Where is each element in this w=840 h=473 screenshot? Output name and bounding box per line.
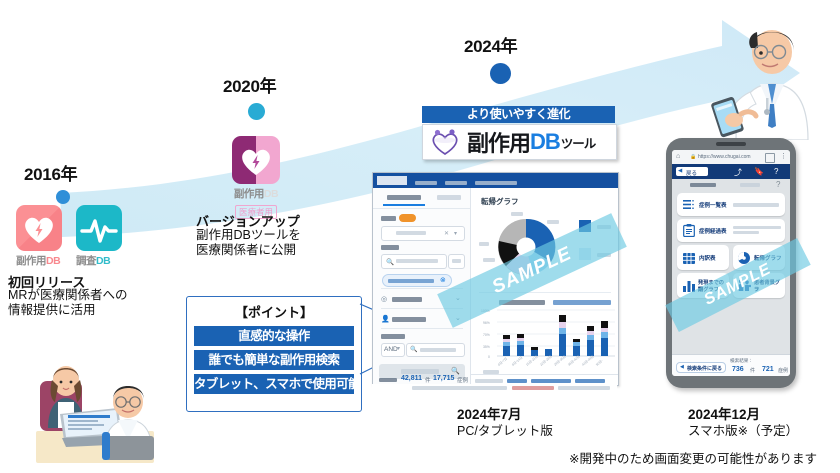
pc-topbar — [373, 173, 618, 188]
app-icon-fukusayo-db-2016: 副作用DB — [16, 205, 62, 268]
help-icon[interactable]: ? — [776, 180, 780, 189]
point-item-2: 誰でも簡単な副作用検索 — [194, 350, 354, 370]
pc-chart-footnote — [483, 370, 499, 374]
pc-detail-button[interactable] — [448, 254, 465, 269]
year-label-2020: 2020年 — [223, 72, 276, 97]
year-dot-2020 — [248, 103, 265, 120]
pc-field-label-adverse — [381, 245, 399, 250]
search-icon: 🔍 — [410, 346, 417, 353]
logo-tool: ツール — [561, 133, 596, 152]
app-caption-db: DB — [46, 255, 60, 267]
pc-chip-causal[interactable]: ⊗ — [382, 274, 452, 287]
phone-tab-conditions[interactable] — [690, 183, 716, 187]
bookmark-icon[interactable]: 🔖 — [754, 167, 764, 176]
person-icon: 👤 — [381, 315, 390, 323]
pc-label-text-search — [381, 334, 405, 339]
phone-tile-case-progress[interactable]: 症例経過表 — [677, 219, 785, 242]
year-dot-2016 — [56, 190, 70, 204]
svg-text:96%: 96% — [483, 321, 490, 325]
product-logo-box: 副作用 DB ツール — [422, 124, 617, 160]
doctor-with-smartphone-illustration — [700, 8, 828, 140]
heart-bolt-icon — [16, 205, 62, 251]
phone-tile-title: 内訳表 — [699, 254, 716, 262]
tabs-icon[interactable] — [765, 153, 775, 163]
app-caption-db: DB — [264, 188, 278, 200]
svg-text:50日-: 50日- — [595, 359, 604, 367]
phone-tile-title: 症例経過表 — [699, 227, 727, 235]
pc-input-adverse[interactable]: 🔍 — [381, 254, 447, 269]
pc-result-cases-unit: 症例 — [457, 376, 468, 384]
phone-bottom-bar: ◀ 検索条件に戻る 検索結果： 736 件 721 症例 — [672, 354, 790, 376]
pc-tab-underline — [383, 204, 425, 206]
pc-bar-chart: 100%96%70%35%0 0日-7日 8日-14日 15日-21日 22日-… — [481, 308, 615, 370]
phone-back-button[interactable]: ◀ 戻る — [676, 167, 708, 176]
chevron-down-icon[interactable]: ▾ — [397, 345, 400, 352]
pc-result-count: 42,811 — [401, 375, 422, 382]
pc-result-cases: 17,715 — [433, 375, 454, 382]
search-icon: 🔍 — [386, 258, 394, 266]
pc-tab-search-conditions[interactable] — [387, 195, 421, 200]
pc-caution-strip — [372, 384, 617, 392]
app-caption-kanji: 副作用 — [234, 188, 264, 200]
phone-browser-bar: ⌂ 🔒 https://www.chugai.com ⋮ — [672, 150, 790, 164]
pc-result-label — [379, 378, 397, 382]
pc-input-product-placeholder — [396, 231, 426, 235]
phone-result-cases-unit: 症例 — [778, 367, 788, 374]
phone-result-count-unit: 件 — [750, 367, 755, 374]
heart-people-icon — [427, 127, 463, 157]
pc-input-adverse-placeholder — [396, 259, 438, 263]
svg-text:35%: 35% — [483, 345, 490, 349]
points-title: 【ポイント】 — [187, 302, 361, 321]
app-caption-kanji: 調査 — [76, 255, 96, 267]
app-caption-kanji: 副作用 — [16, 255, 46, 267]
logo-db: DB — [530, 129, 560, 155]
pc-action-clear[interactable] — [475, 181, 517, 185]
pc-donut-label-2 — [547, 220, 559, 224]
release-body-2020-line2: 医療関係者に公開 — [196, 243, 296, 259]
pc-divider — [373, 208, 470, 209]
point-item-1: 直感的な操作 — [194, 326, 354, 346]
back-arrow-icon: ◀ — [678, 168, 682, 174]
svg-text:0: 0 — [488, 355, 490, 359]
pc-action-redo[interactable] — [445, 181, 467, 185]
phone-tile-breakdown[interactable]: 内訳表 — [677, 245, 729, 270]
operator-value: AND — [384, 346, 398, 353]
phone-app-header: ◀ 戻る ⤴ 🔖 ? — [672, 164, 790, 179]
phone-tile-title: 症例一覧表 — [699, 201, 727, 209]
points-box: 【ポイント】 直感的な操作 誰でも簡単な副作用検索 タブレット、スマホで使用可能 — [186, 296, 362, 412]
phone-back-to-search-label: 検索条件に戻る — [687, 365, 722, 372]
app-icon-chosa-db-2016: 調査DB — [76, 205, 122, 268]
pc-footer-divider — [471, 374, 619, 375]
clear-icon[interactable]: ✕ — [444, 230, 449, 237]
pc-footer-link-2[interactable] — [531, 379, 571, 383]
phone-result-count: 736 — [732, 366, 744, 373]
phone-url[interactable]: https://www.chugai.com — [698, 154, 751, 160]
phone-tabs-row: ? — [672, 179, 790, 190]
release-body-2016-line2: 情報提供に活用 — [8, 303, 96, 319]
pc-action-undo[interactable] — [415, 181, 437, 185]
svg-text:70%: 70% — [483, 333, 490, 337]
pc-operator-select[interactable]: AND ▾ — [381, 343, 405, 357]
phone-result-cases: 721 — [762, 366, 774, 373]
year-label-2024: 2024年 — [464, 32, 517, 57]
release-body-2020-line1: 副作用DBツールを — [196, 228, 301, 244]
app-caption-db: DB — [96, 255, 110, 267]
year-dot-2024 — [490, 63, 511, 84]
pc-donut-label-1 — [511, 212, 523, 216]
pulse-wave-icon — [76, 205, 122, 251]
caption-phone-sub: スマホ版※（予定） — [688, 420, 798, 439]
pc-footer-label — [475, 379, 503, 383]
info-icon: ◎ — [381, 295, 387, 303]
year-label-2016: 2016年 — [24, 160, 77, 185]
phone-notch — [716, 142, 746, 146]
share-icon[interactable]: ⤴ — [734, 167, 742, 178]
infographic-canvas: 2016年 副作用DB 調査DB 初回リリース MRが医療関係者への 情報提供に… — [0, 0, 840, 473]
phone-tile-desc-1 — [733, 226, 781, 229]
pc-donut-label-4 — [483, 258, 495, 262]
svg-text:0日-7日: 0日-7日 — [497, 357, 508, 367]
pc-tab-search-settings[interactable] — [437, 195, 461, 200]
chevron-down-icon[interactable]: ▾ — [454, 230, 457, 237]
pc-input-product[interactable]: ✕ ▾ — [381, 226, 465, 241]
list-icon — [683, 199, 694, 210]
phone-tile-desc-2 — [733, 231, 759, 234]
back-arrow-icon: ◀ — [680, 364, 684, 370]
logo-word: 副作用 — [467, 126, 530, 158]
pc-field-label-product — [381, 216, 396, 221]
pc-chart-title: 転帰グラフ — [481, 196, 519, 207]
svg-text:8日-14日: 8日-14日 — [511, 355, 523, 366]
evolve-banner: より使いやすく進化 — [422, 106, 615, 123]
pc-required-badge — [399, 214, 416, 222]
pc-donut-label-3 — [479, 242, 489, 246]
pc-footer-link-3[interactable] — [575, 379, 605, 383]
heart-bolt-icon — [232, 136, 280, 184]
mr-and-doctor-illustration — [18, 336, 168, 468]
development-note: ※開発中のため画面変更の可能性があります — [569, 448, 817, 467]
pc-brand-logo — [377, 176, 407, 185]
phone-result-label: 検索結果： — [730, 358, 753, 364]
phone-back-to-search[interactable]: ◀ 検索条件に戻る — [676, 362, 726, 373]
pc-chart2-stats — [553, 300, 611, 305]
caption-pc-sub: PC/タブレット版 — [457, 420, 553, 439]
point-item-3: タブレット、スマホで使用可能 — [194, 374, 354, 394]
lock-icon: 🔒 — [690, 154, 696, 160]
phone-back-label: 戻る — [686, 169, 697, 177]
clipboard-icon — [683, 224, 695, 237]
pc-footer-link-1[interactable] — [507, 379, 527, 383]
app-icon-fukusayo-db-2020: 副作用DB 医療者用 — [232, 136, 280, 220]
grid-icon — [683, 253, 695, 264]
more-menu-icon[interactable]: ⋮ — [780, 152, 787, 160]
release-body-2016-line1: MRが医療関係者への — [8, 288, 127, 304]
phone-tab-results[interactable] — [740, 183, 760, 187]
pc-input-text-search[interactable]: 🔍 — [406, 343, 465, 357]
home-icon[interactable]: ⌂ — [676, 153, 680, 160]
chip-remove-icon[interactable]: ⊗ — [440, 276, 446, 284]
phone-tile-desc — [733, 203, 779, 207]
help-icon[interactable]: ? — [774, 167, 778, 176]
pc-result-count-unit: 件 — [425, 376, 431, 384]
phone-tile-case-list[interactable]: 症例一覧表 — [677, 193, 785, 216]
